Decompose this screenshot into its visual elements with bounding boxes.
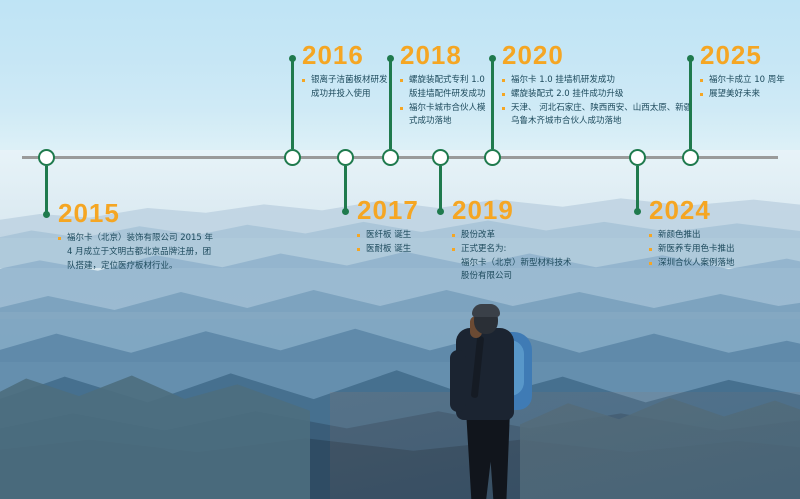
hiker-legs [466, 410, 510, 499]
milestone-bullet-list: 新颜色推出新医养专用色卡推出深圳合伙人案例落地 [649, 229, 779, 270]
milestone-bullet-item: 新医养专用色卡推出 [649, 243, 779, 257]
milestone-bullet-item: 天津、 河北石家庄、陕西西安、山西太原、新疆 [502, 102, 702, 116]
timeline-node[interactable] [38, 149, 55, 166]
milestone-bullet-item: 福尔卡（北京）新型材料技术 [452, 257, 582, 271]
timeline-node[interactable] [629, 149, 646, 166]
milestone-bullet-item: 正式更名为: [452, 243, 582, 257]
timeline-stem [491, 58, 494, 149]
milestone-year-label: 2024 [649, 197, 779, 223]
milestone-bullet-list: 福尔卡（北京）装饰有限公司 2015 年4 月成立于文明古都北京品牌注册，团队搭… [58, 232, 218, 273]
timeline-stem-tip [342, 208, 349, 215]
milestone-year-label: 2019 [452, 197, 582, 223]
timeline-stem [291, 58, 294, 149]
timeline-infographic: 2016银离子洁菌板材研发成功并投入使用2018螺旋装配式专利 1.0版挂墙配件… [0, 0, 800, 499]
milestone-bullet-item: 深圳合伙人案例落地 [649, 257, 779, 271]
milestone-2015: 2015福尔卡（北京）装饰有限公司 2015 年4 月成立于文明古都北京品牌注册… [58, 200, 218, 273]
milestone-2024: 2024新颜色推出新医养专用色卡推出深圳合伙人案例落地 [649, 197, 779, 270]
timeline-stem-tip [687, 55, 694, 62]
timeline-node[interactable] [682, 149, 699, 166]
milestone-2020: 2020福尔卡 1.0 挂墙机研发成功螺旋装配式 2.0 挂件成功升级天津、 河… [502, 42, 702, 129]
milestone-bullet-item: 医耐板 诞生 [357, 243, 467, 257]
milestone-bullet-list: 福尔卡 1.0 挂墙机研发成功螺旋装配式 2.0 挂件成功升级天津、 河北石家庄… [502, 74, 702, 129]
milestone-bullet-item: 银离子洁菌板材研发 [302, 74, 402, 88]
timeline-stem [45, 166, 48, 214]
milestone-year-label: 2020 [502, 42, 702, 68]
timeline-stem-tip [43, 211, 50, 218]
hiker-arm [450, 350, 466, 412]
milestone-bullet-item: 队搭建，定位医疗板材行业。 [58, 260, 218, 274]
milestone-bullet-list: 股份改革正式更名为:福尔卡（北京）新型材料技术股份有限公司 [452, 229, 582, 284]
milestone-2019: 2019股份改革正式更名为:福尔卡（北京）新型材料技术股份有限公司 [452, 197, 582, 284]
milestone-bullet-item: 版挂墙配件研发成功 [400, 88, 500, 102]
milestone-bullet-list: 螺旋装配式专利 1.0版挂墙配件研发成功福尔卡城市合伙人模式成功落地 [400, 74, 500, 129]
milestone-bullet-item: 福尔卡成立 10 周年 [700, 74, 800, 88]
milestone-bullet-item: 展望美好未来 [700, 88, 800, 102]
milestone-bullet-item: 福尔卡 1.0 挂墙机研发成功 [502, 74, 702, 88]
milestone-bullet-item: 螺旋装配式专利 1.0 [400, 74, 500, 88]
timeline-node[interactable] [382, 149, 399, 166]
timeline-stem [439, 166, 442, 211]
milestone-bullet-item: 螺旋装配式 2.0 挂件成功升级 [502, 88, 702, 102]
milestone-bullet-list: 福尔卡成立 10 周年展望美好未来 [700, 74, 800, 102]
milestone-year-label: 2018 [400, 42, 500, 68]
hiker-cap [472, 304, 500, 317]
milestone-bullet-item: 式成功落地 [400, 115, 500, 129]
milestone-year-label: 2015 [58, 200, 218, 226]
timeline-node[interactable] [284, 149, 301, 166]
timeline-node[interactable] [432, 149, 449, 166]
milestone-2017: 2017医纤板 诞生医耐板 诞生 [357, 197, 467, 257]
timeline-stem [689, 58, 692, 149]
timeline-axis [22, 156, 778, 159]
milestone-year-label: 2017 [357, 197, 467, 223]
timeline-stem-tip [387, 55, 394, 62]
milestone-bullet-item: 医纤板 诞生 [357, 229, 467, 243]
timeline-node[interactable] [337, 149, 354, 166]
warm-light-overlay [330, 392, 800, 499]
timeline-stem-tip [437, 208, 444, 215]
milestone-bullet-item: 新颜色推出 [649, 229, 779, 243]
milestone-bullet-list: 银离子洁菌板材研发成功并投入使用 [302, 74, 402, 102]
milestone-year-label: 2016 [302, 42, 402, 68]
milestone-year-label: 2025 [700, 42, 800, 68]
milestone-bullet-item: 福尔卡城市合伙人模 [400, 102, 500, 116]
milestone-bullet-item: 4 月成立于文明古都北京品牌注册，团 [58, 246, 218, 260]
timeline-stem [636, 166, 639, 211]
milestone-bullet-item: 成功并投入使用 [302, 88, 402, 102]
milestone-bullet-item: 乌鲁木齐城市合伙人成功落地 [502, 115, 702, 129]
timeline-stem-tip [289, 55, 296, 62]
milestone-bullet-item: 福尔卡（北京）装饰有限公司 2015 年 [58, 232, 218, 246]
milestone-2018: 2018螺旋装配式专利 1.0版挂墙配件研发成功福尔卡城市合伙人模式成功落地 [400, 42, 500, 129]
timeline-node[interactable] [484, 149, 501, 166]
milestone-bullet-item: 股份改革 [452, 229, 582, 243]
milestone-2016: 2016银离子洁菌板材研发成功并投入使用 [302, 42, 402, 102]
hiker-figure [430, 306, 550, 499]
milestone-bullet-list: 医纤板 诞生医耐板 诞生 [357, 229, 467, 257]
milestone-bullet-item: 股份有限公司 [452, 270, 582, 284]
timeline-stem-tip [489, 55, 496, 62]
milestone-2025: 2025福尔卡成立 10 周年展望美好未来 [700, 42, 800, 102]
timeline-stem [389, 58, 392, 149]
timeline-stem [344, 166, 347, 211]
timeline-stem-tip [634, 208, 641, 215]
